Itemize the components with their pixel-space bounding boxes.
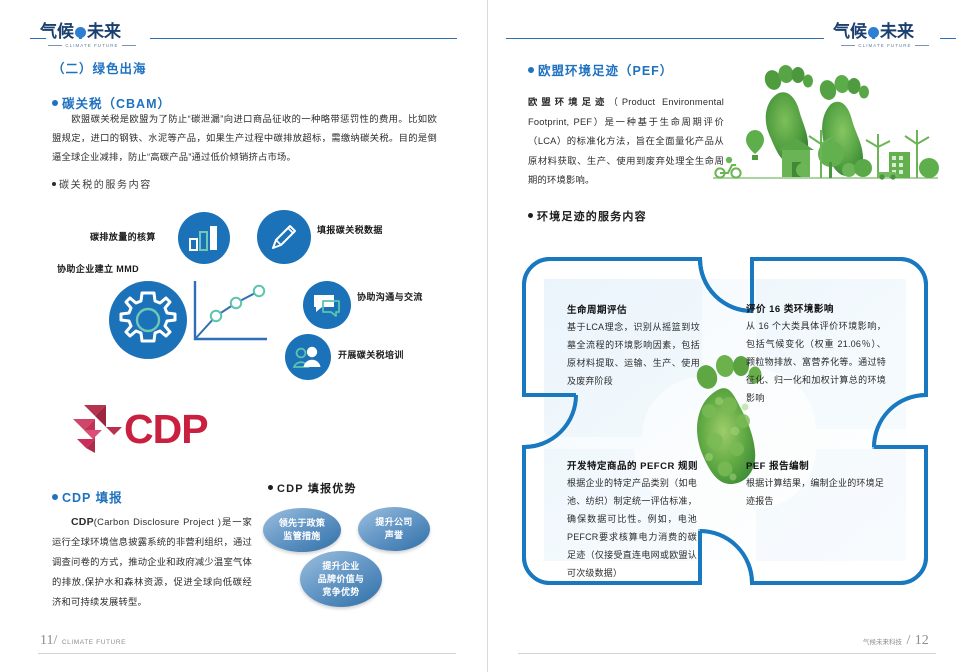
green-footprint-illustration bbox=[703, 52, 948, 197]
paragraph-cbam: 欧盟碳关税是欧盟为了防止“碳泄漏”向进口商品征收的一种略带惩罚性的费用。比如欧盟… bbox=[52, 110, 437, 167]
service-label-3: 协助沟通与交流 bbox=[357, 290, 423, 303]
cdp-en: (Carbon Disclosure Project ) bbox=[94, 517, 221, 527]
people-icon bbox=[293, 345, 323, 369]
quadrant-body-3: 根据计算结果，编制企业的环境足迹报告 bbox=[746, 474, 884, 510]
lightbulb-icon bbox=[868, 27, 879, 38]
heading-cbam-services-label: 碳关税的服务内容 bbox=[59, 180, 152, 191]
service-label-2: 协助企业建立 MMD bbox=[57, 262, 139, 275]
logo-cn-second: 未来 bbox=[880, 22, 914, 41]
right-page: 气候未来 CLIMATE FUTURE 欧盟环境足迹（PEF） 欧盟环境足迹（P… bbox=[488, 0, 975, 672]
advantage-bubble-0[interactable]: 领先于政策 监管措施 bbox=[263, 508, 341, 552]
service-label-0: 碳排放量的核算 bbox=[90, 230, 156, 243]
quadrant-title-3: PEF 报告编制 bbox=[746, 458, 809, 472]
cdp-logo-mark bbox=[72, 403, 128, 455]
page-title: （二）绿色出海 bbox=[52, 58, 147, 77]
advantage-bubble-2[interactable]: 提升企业 品牌价值与 竞争优势 bbox=[300, 551, 382, 607]
service-icon-gear bbox=[109, 281, 187, 359]
header-rule-left bbox=[150, 38, 457, 39]
header-rule-right bbox=[506, 38, 824, 39]
heading-pef-services-label: 环境足迹的服务内容 bbox=[537, 211, 647, 223]
pef-lead: 欧盟环境足迹 bbox=[528, 97, 608, 107]
heading-pef: 欧盟环境足迹（PEF） bbox=[528, 60, 673, 79]
footer-right: 气候未来科技 / 12 bbox=[863, 631, 929, 649]
heading-cdp-label: CDP 填报 bbox=[62, 491, 123, 505]
heading-pef-services: 环境足迹的服务内容 bbox=[528, 208, 647, 224]
footer-rule-right bbox=[518, 653, 936, 654]
bullet-icon bbox=[52, 100, 58, 106]
bullet-icon bbox=[268, 485, 273, 490]
quadrant-body-0: 基于LCA理念，识别从摇篮到坟墓全流程的环境影响因素，包括原材料提取、运输、生产… bbox=[567, 318, 700, 390]
pencil-icon bbox=[269, 222, 299, 252]
heading-cbam-services: 碳关税的服务内容 bbox=[52, 176, 152, 191]
footer-slash: / bbox=[53, 633, 57, 648]
cdp-lead: CDP bbox=[71, 516, 94, 528]
footer-brand: CLIMATE FUTURE bbox=[62, 639, 126, 646]
paragraph-pef-text: （Product Environmental Footprint, PEF）是一… bbox=[528, 97, 724, 185]
chat-bubble-icon bbox=[312, 292, 342, 318]
footer-page-number: 12 bbox=[915, 633, 929, 648]
lightbulb-icon bbox=[75, 27, 86, 38]
cdp-mark-icon bbox=[72, 403, 128, 455]
left-page: 气候未来 CLIMATE FUTURE （二）绿色出海 碳关税（CBAM） 欧盟… bbox=[0, 0, 487, 672]
footer-left: 11/ CLIMATE FUTURE bbox=[40, 631, 126, 649]
line-chart-graphic bbox=[189, 279, 271, 345]
gear-icon bbox=[117, 289, 179, 351]
heading-cbam-label: 碳关税（CBAM） bbox=[62, 97, 171, 111]
logo-rule-right bbox=[122, 45, 136, 46]
bar-chart-icon bbox=[189, 225, 219, 251]
heading-cdp: CDP 填报 bbox=[52, 487, 123, 506]
footer-rule-left bbox=[38, 653, 456, 654]
logo-left: 气候未来 CLIMATE FUTURE bbox=[40, 22, 144, 56]
heading-cdp-advantages: CDP 填报优势 bbox=[268, 480, 357, 496]
logo-wordmark: 气候未来 bbox=[833, 22, 937, 41]
logo-en: CLIMATE FUTURE bbox=[858, 43, 911, 48]
header-rule-left-stub bbox=[30, 38, 46, 39]
cdp-logo-text: CDP bbox=[124, 409, 208, 450]
service-label-1: 填报碳关税数据 bbox=[317, 223, 383, 236]
paragraph-pef: 欧盟环境足迹（Product Environmental Footprint, … bbox=[528, 93, 724, 191]
bullet-icon bbox=[52, 182, 56, 186]
quadrant-title-1: 评价 16 类环境影响 bbox=[746, 301, 834, 315]
logo-rule-right bbox=[915, 45, 929, 46]
heading-pef-label: 欧盟环境足迹（PEF） bbox=[538, 64, 673, 78]
paragraph-cbam-text: 欧盟碳关税是欧盟为了防止“碳泄漏”向进口商品征收的一种略带惩罚性的费用。比如欧盟… bbox=[52, 114, 437, 162]
logo-cn-second: 未来 bbox=[87, 22, 121, 41]
footer-brand-cn: 气候未来科技 bbox=[863, 639, 902, 646]
header-rule-right-stub bbox=[940, 38, 956, 39]
footer-page-number: 11 bbox=[40, 633, 53, 648]
quadrant-title-0: 生命周期评估 bbox=[567, 302, 627, 316]
service-label-4: 开展碳关税培训 bbox=[338, 348, 404, 361]
logo-right: 气候未来 CLIMATE FUTURE bbox=[833, 22, 937, 56]
logo-en: CLIMATE FUTURE bbox=[65, 43, 118, 48]
paragraph-cdp: CDP(Carbon Disclosure Project )是一家运行全球环境… bbox=[52, 512, 252, 612]
service-icon-pencil bbox=[257, 210, 311, 264]
service-icon-people bbox=[285, 334, 331, 380]
quadrant-title-2: 开发特定商品的 PEFCR 规则 bbox=[567, 458, 698, 472]
advantage-bubble-1[interactable]: 提升公司 声誉 bbox=[358, 507, 430, 551]
logo-rule-left bbox=[841, 45, 855, 46]
bullet-icon bbox=[528, 67, 534, 73]
line-chart-icon bbox=[189, 279, 271, 345]
paragraph-cdp-text: 是一家运行全球环境信息披露系统的非营利组织，通过调查问卷的方式，推动企业和政府减… bbox=[52, 517, 252, 607]
footprint-landscape-icon bbox=[703, 52, 948, 197]
heading-cdp-advantages-label: CDP 填报优势 bbox=[277, 483, 357, 495]
logo-rule-left bbox=[48, 45, 62, 46]
service-icon-chat bbox=[303, 281, 351, 329]
service-icon-bar-chart bbox=[178, 212, 230, 264]
magazine-spread: 气候未来 CLIMATE FUTURE （二）绿色出海 碳关税（CBAM） 欧盟… bbox=[0, 0, 975, 672]
quadrant-body-2: 根据企业的特定产品类别（如电池、纺织）制定统一评估标准，确保数据可比性。例如，电… bbox=[567, 474, 697, 582]
pef-services-panel: 生命周期评估 基于LCA理念，识别从摇篮到坟墓全流程的环境影响因素，包括原材料提… bbox=[510, 245, 940, 595]
logo-cn-first: 气候 bbox=[833, 22, 867, 41]
logo-wordmark: 气候未来 bbox=[40, 22, 144, 41]
quadrant-body-1: 从 16 个大类具体评价环境影响，包括气候变化（权重 21.06％）、颗粒物排放… bbox=[746, 317, 886, 407]
footer-slash: / bbox=[906, 633, 910, 648]
bullet-icon bbox=[528, 213, 533, 218]
logo-subtitle-wrap: CLIMATE FUTURE bbox=[833, 42, 937, 48]
bullet-icon bbox=[52, 494, 58, 500]
logo-subtitle-wrap: CLIMATE FUTURE bbox=[40, 42, 144, 48]
